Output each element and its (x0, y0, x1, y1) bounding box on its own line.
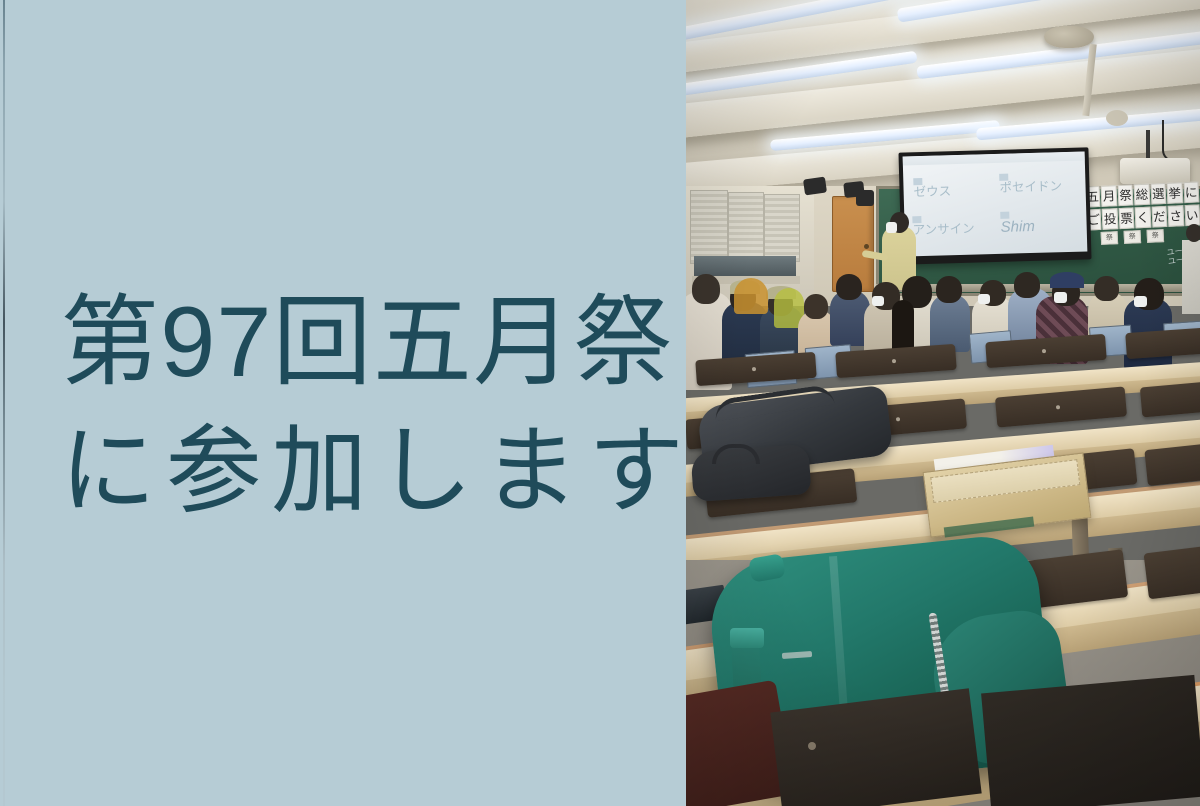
face-mask (1134, 296, 1147, 307)
poster-card-small: 祭 (1124, 230, 1142, 244)
face-mask (1054, 292, 1067, 303)
text-panel: 第97回五月祭 に参加します (0, 0, 686, 806)
ceiling-fitting (1106, 110, 1128, 126)
chair-back-foreground (981, 675, 1200, 806)
attendee-head (804, 294, 828, 319)
wall-speaker (856, 190, 874, 206)
chair-back (1144, 442, 1200, 486)
slide-candidate-2: ポセイドン (999, 172, 1062, 194)
poster-row-2: ご 投 票 く だ さ い (1086, 204, 1200, 230)
poster-card: 票 (1118, 207, 1134, 229)
page-title: 第97回五月祭 に参加します (60, 276, 660, 535)
poster-card: 月 (1101, 185, 1117, 207)
projection-screen: ゼウス ポセイドン アンサイン Shim (903, 151, 1088, 256)
chair-back (1125, 327, 1200, 359)
standing-person-head (1186, 224, 1200, 242)
candidate-name: ポセイドン (999, 180, 1062, 194)
poster-card: さ (1168, 205, 1184, 227)
attendee-torso (734, 278, 768, 314)
poster-card: だ (1151, 206, 1167, 228)
window-blind (728, 192, 764, 264)
chair-back (1144, 543, 1200, 600)
poster-card: に (1183, 181, 1199, 203)
slide-candidate-3: アンサイン (912, 215, 975, 237)
window-blind (690, 190, 728, 264)
backpack-buckle (730, 628, 764, 648)
slide-candidate-1: ゼウス (913, 177, 951, 199)
candidate-name: Shim (1000, 219, 1035, 235)
left-edge-seam (3, 0, 5, 806)
window-blind (764, 194, 800, 262)
slide-candidate-4: Shim (1000, 211, 1035, 235)
poster-card-small: 祭 (1101, 231, 1119, 245)
door-knob (864, 244, 869, 249)
poster-card: い (1184, 204, 1200, 226)
face-mask (886, 222, 897, 233)
attendee-head (1094, 276, 1119, 301)
poster-card-small: 祭 (1147, 229, 1165, 243)
poster-card: く (1135, 207, 1151, 229)
attendee-head (936, 276, 962, 303)
msf-participation-banner: 第97回五月祭 に参加します (0, 0, 1200, 806)
face-mask (978, 294, 990, 304)
poster-row-1: 五 月 祭 総 選 挙 に (1085, 181, 1200, 207)
candidate-name: ゼウス (913, 185, 951, 199)
poster-card: 祭 (1117, 184, 1133, 206)
page-title-line-2: に参加します (60, 408, 660, 536)
poster-card: 投 (1102, 208, 1118, 230)
lecture-hall-photo: ユーザ ユーザ 五 月 祭 総 選 挙 に ご 投 票 く だ さ い (686, 0, 1200, 806)
chair-back (1140, 381, 1200, 418)
cap (1050, 272, 1084, 288)
attendee-head (692, 274, 720, 304)
poster-card: 総 (1134, 184, 1150, 206)
ceiling-vent (1044, 26, 1094, 48)
attendee-head (1014, 272, 1040, 298)
chair-screw (808, 742, 816, 750)
poster-card: 挙 (1167, 182, 1183, 204)
projector-cable (1162, 120, 1180, 162)
face-mask (872, 296, 884, 306)
candidate-name: アンサイン (913, 223, 975, 237)
poster-card: 選 (1150, 183, 1166, 205)
projector-mount (1146, 130, 1150, 160)
attendee-head (836, 274, 862, 300)
page-title-line-1: 第97回五月祭 (60, 276, 660, 408)
wall-speaker (803, 177, 827, 196)
ceiling-projector (1120, 158, 1190, 184)
